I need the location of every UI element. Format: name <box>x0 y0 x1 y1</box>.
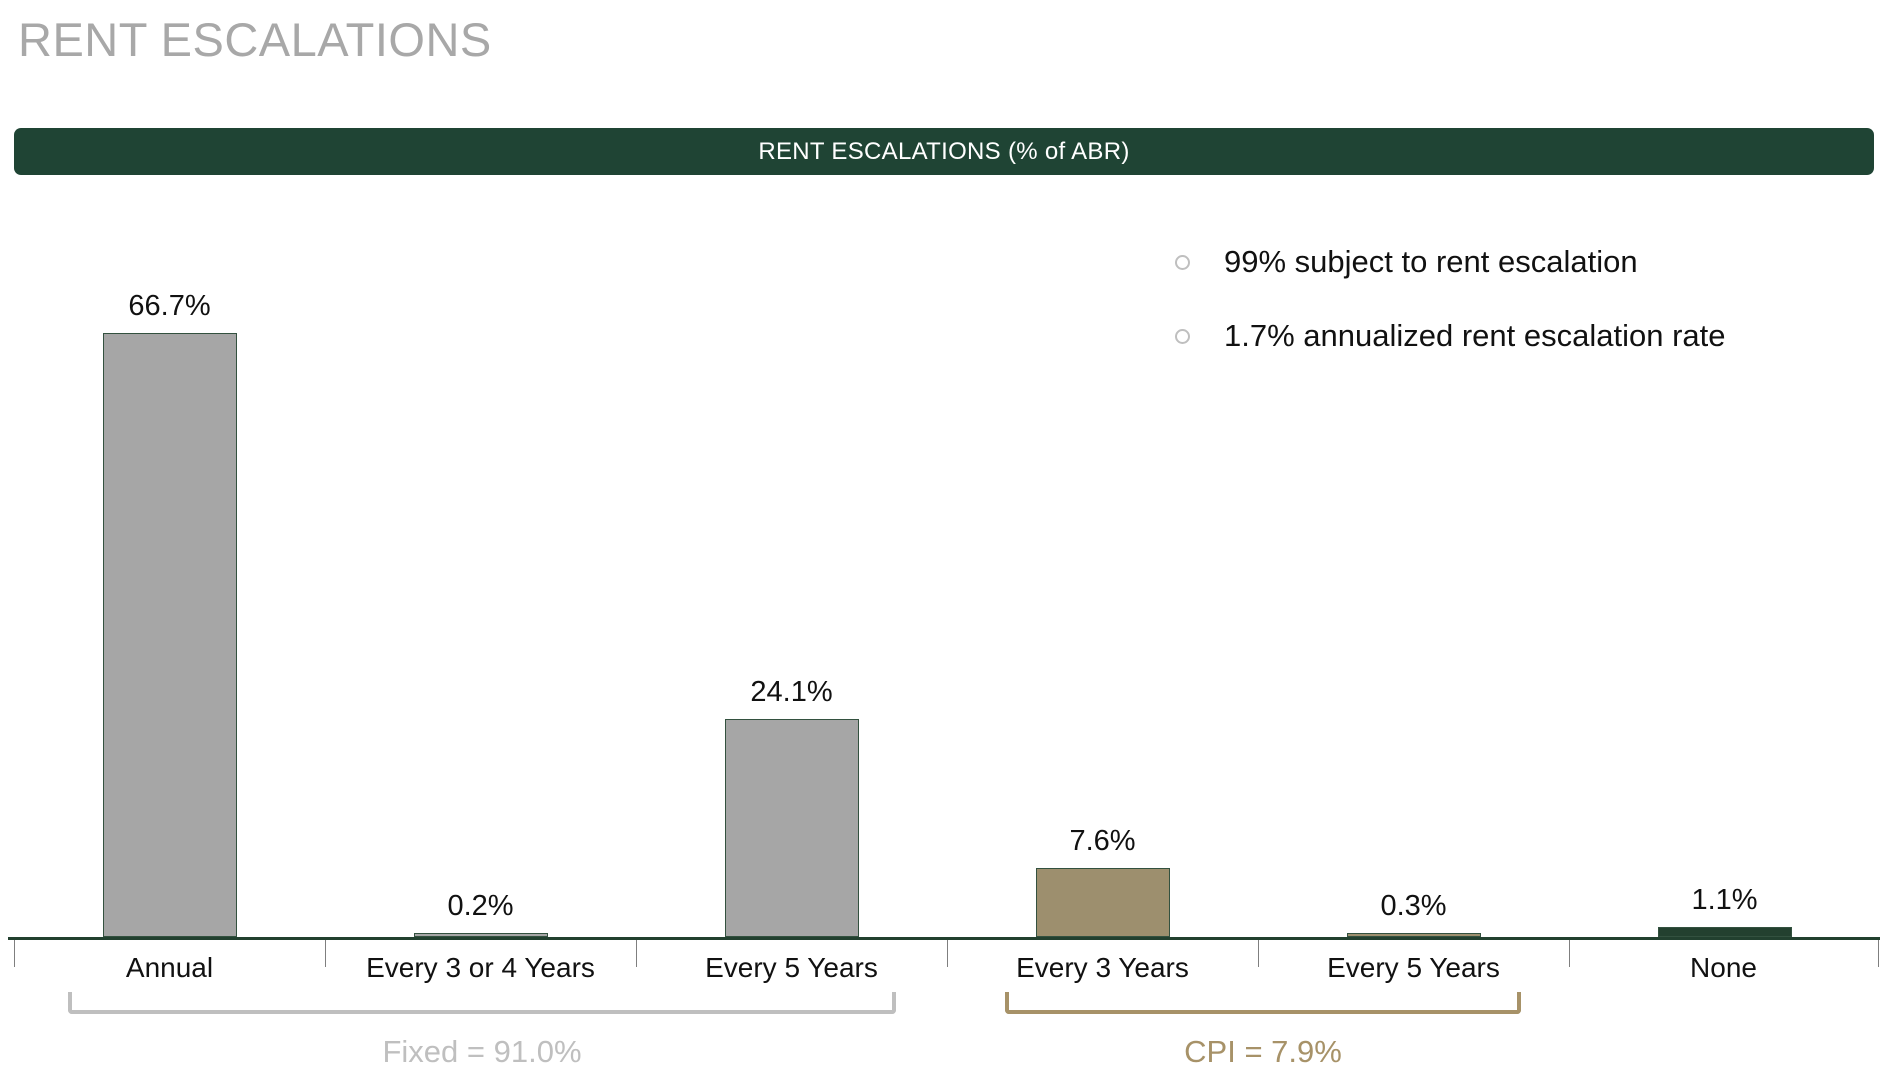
bar-annual <box>103 333 237 937</box>
x-axis-label-every-3-or-4-years: Every 3 or 4 Years <box>325 952 636 984</box>
group-bracket-cpi <box>1005 992 1521 1014</box>
group-label-fixed: Fixed = 91.0% <box>68 1034 896 1070</box>
x-axis-label-every-3-years-cpi: Every 3 Years <box>947 952 1258 984</box>
bar-every-5-years-fixed <box>725 719 859 937</box>
bar-value-label: 0.3% <box>1258 890 1569 923</box>
bar-value-label: 0.2% <box>325 890 636 923</box>
x-axis-label-every-5-years-cpi: Every 5 Years <box>1258 952 1569 984</box>
x-axis-label-annual: Annual <box>14 952 325 984</box>
bar-value-label: 66.7% <box>14 290 325 323</box>
x-axis-label-every-5-years-fixed: Every 5 Years <box>636 952 947 984</box>
bar-every-5-years-cpi <box>1347 933 1481 937</box>
group-label-cpi: CPI = 7.9% <box>1005 1034 1521 1070</box>
group-bracket-fixed <box>68 992 896 1014</box>
bar-value-label: 24.1% <box>636 676 947 709</box>
x-axis-label-none: None <box>1569 952 1878 984</box>
bar-every-3-or-4-years <box>414 933 548 937</box>
page-title: RENT ESCALATIONS <box>18 12 492 67</box>
bar-every-3-years-cpi <box>1036 868 1170 937</box>
section-banner: RENT ESCALATIONS (% of ABR) <box>14 128 1874 175</box>
bar-chart-plot: 66.7% 0.2% 24.1% 7.6% 0.3% 1.1% <box>0 220 1888 940</box>
bar-none <box>1658 927 1792 937</box>
bar-value-label: 7.6% <box>947 825 1258 858</box>
section-banner-label: RENT ESCALATIONS (% of ABR) <box>758 138 1129 166</box>
bar-value-label: 1.1% <box>1569 884 1880 917</box>
